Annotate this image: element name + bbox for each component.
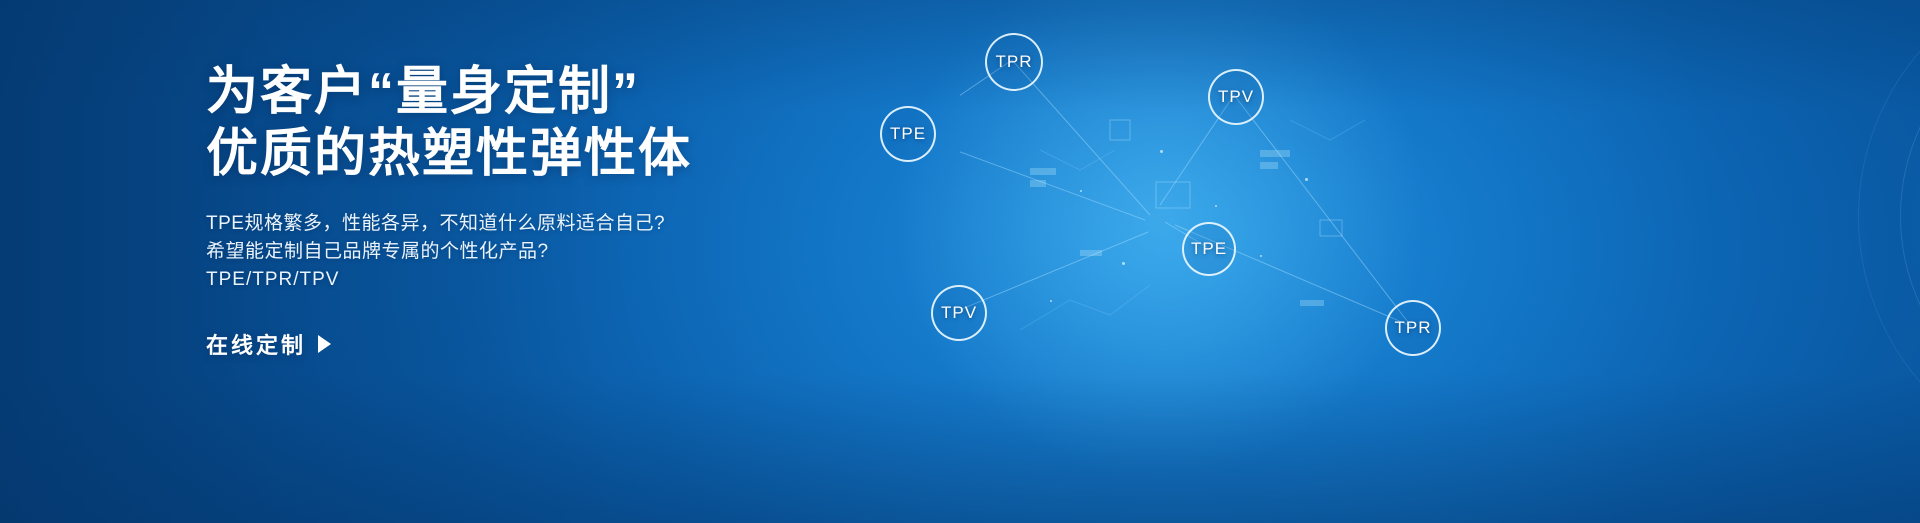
headline-line-2: 优质的热塑性弹性体 xyxy=(206,124,966,184)
copy-block: 为客户“量身定制” 优质的热塑性弹性体 TPE规格繁多，性能各异，不知道什么原料… xyxy=(206,62,966,360)
node-connector-lines xyxy=(960,0,1920,523)
node-label: TPR xyxy=(996,52,1033,72)
promo-banner: TPR TPV TPE TPE TPV TPR 为客户“量身定制” 优质的热塑性… xyxy=(0,0,1920,523)
node-label: TPV xyxy=(1218,87,1254,107)
subcopy-block: TPE规格繁多，性能各异，不知道什么原料适合自己? 希望能定制自己品牌专属的个性… xyxy=(206,210,966,294)
subcopy-line-1: TPE规格繁多，性能各异，不知道什么原料适合自己? xyxy=(206,210,966,238)
online-customization-button[interactable]: 在线定制 xyxy=(206,328,331,360)
subcopy-line-3: TPE/TPR/TPV xyxy=(206,266,966,294)
node-label: TPE xyxy=(1191,239,1227,259)
node-tpr-1[interactable]: TPR xyxy=(985,33,1043,91)
play-triangle-icon xyxy=(318,335,331,353)
node-label: TPR xyxy=(1395,318,1432,338)
page-title: 为客户“量身定制” 优质的热塑性弹性体 xyxy=(206,62,966,184)
node-tpe-2[interactable]: TPE xyxy=(1182,222,1236,276)
headline-line-1: 为客户“量身定制” xyxy=(206,62,966,122)
cta-label: 在线定制 xyxy=(206,328,306,360)
node-tpr-2[interactable]: TPR xyxy=(1385,300,1441,356)
node-tpv-1[interactable]: TPV xyxy=(1208,69,1264,125)
subcopy-line-2: 希望能定制自己品牌专属的个性化产品? xyxy=(206,238,966,266)
technology-graphic xyxy=(960,0,1920,523)
